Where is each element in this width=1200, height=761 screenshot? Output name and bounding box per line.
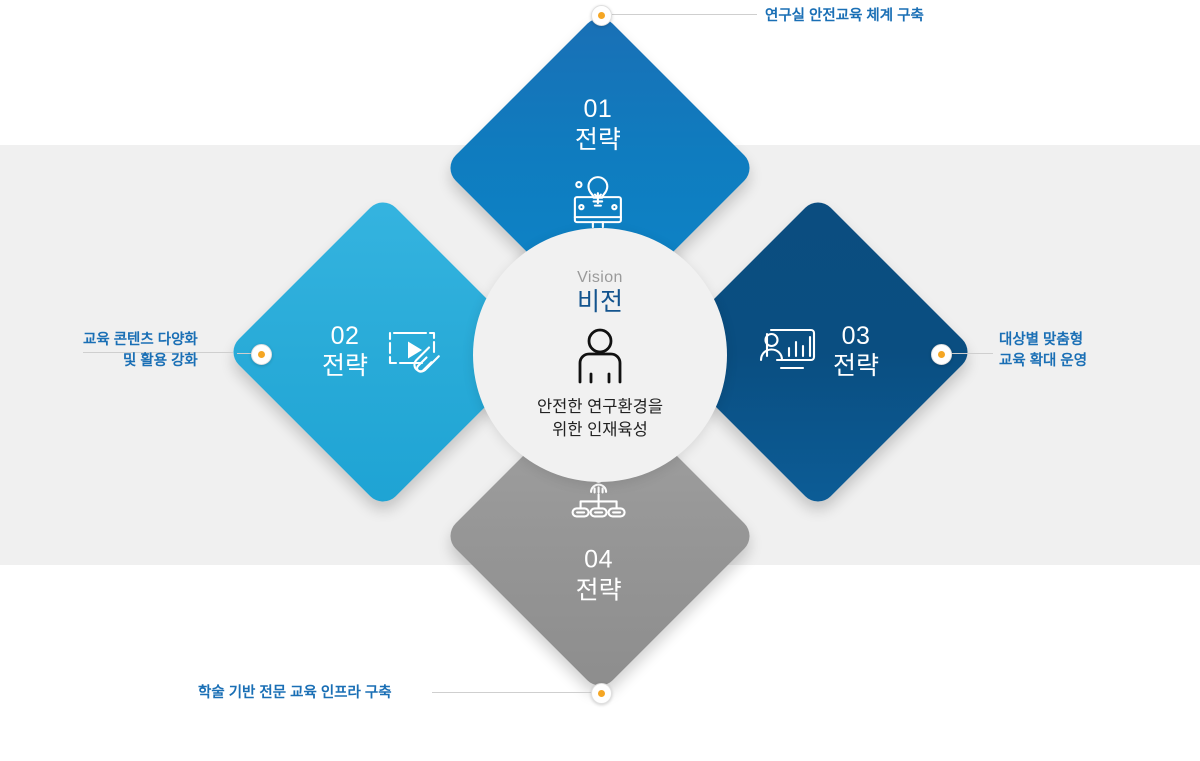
callout-left: 교육 콘텐츠 다양화 및 활용 강화: [83, 330, 198, 372]
vision-en-label: Vision: [577, 269, 623, 287]
connector-dot-left: [251, 344, 272, 365]
callout-right: 대상별 맞춤형 교육 확대 운영: [999, 330, 1087, 372]
strategy-02-number: 02: [331, 322, 360, 352]
vision-description: 안전한 연구환경을 위한 인재육성: [537, 396, 663, 442]
callout-top: 연구실 안전교육 체계 구축: [765, 6, 924, 27]
leader-line-bottom: [432, 692, 592, 693]
strategy-03-label: 전략: [833, 351, 879, 382]
strategy-diagram: 01 전략: [0, 0, 1200, 708]
connector-dot-right: [931, 344, 952, 365]
strategy-02-text: 02 전략: [322, 322, 368, 383]
vision-circle[interactable]: Vision 비전 안전한 연구환경을 위한 인재육성: [473, 228, 727, 482]
vision-ko-label: 비전: [577, 288, 623, 317]
video-paperclip-icon: [382, 321, 444, 384]
strategy-03-text: 03 전략: [833, 322, 879, 383]
connector-dot-top: [591, 5, 612, 26]
callout-left-line1: 교육 콘텐츠 다양화: [83, 330, 198, 351]
strategy-04-text: 04 전략: [576, 546, 622, 607]
strategy-04-number: 04: [584, 546, 613, 576]
callout-left-line2: 및 활용 강화: [83, 351, 198, 372]
person-icon: [572, 327, 628, 390]
strategy-01-text: 01 전략: [575, 95, 621, 156]
strategy-02-label: 전략: [322, 351, 368, 382]
strategy-04-label: 전략: [576, 575, 622, 606]
callout-right-line1: 대상별 맞춤형: [999, 330, 1087, 351]
leader-line-top: [612, 14, 757, 15]
callout-bottom: 학술 기반 전문 교육 인프라 구축: [198, 683, 392, 704]
strategy-01-label: 전략: [575, 125, 621, 156]
strategy-02-content: 02 전략: [272, 241, 494, 463]
strategy-03-content: 03 전략: [707, 241, 929, 463]
vision-description-line1: 안전한 연구환경을: [537, 396, 663, 419]
strategy-03-number: 03: [842, 322, 871, 352]
connector-dot-bottom: [591, 683, 612, 704]
person-barchart-icon: [757, 322, 819, 383]
vision-description-line2: 위한 인재육성: [537, 419, 663, 442]
strategy-01-number: 01: [583, 95, 612, 125]
callout-right-line2: 교육 확대 운영: [999, 351, 1087, 372]
